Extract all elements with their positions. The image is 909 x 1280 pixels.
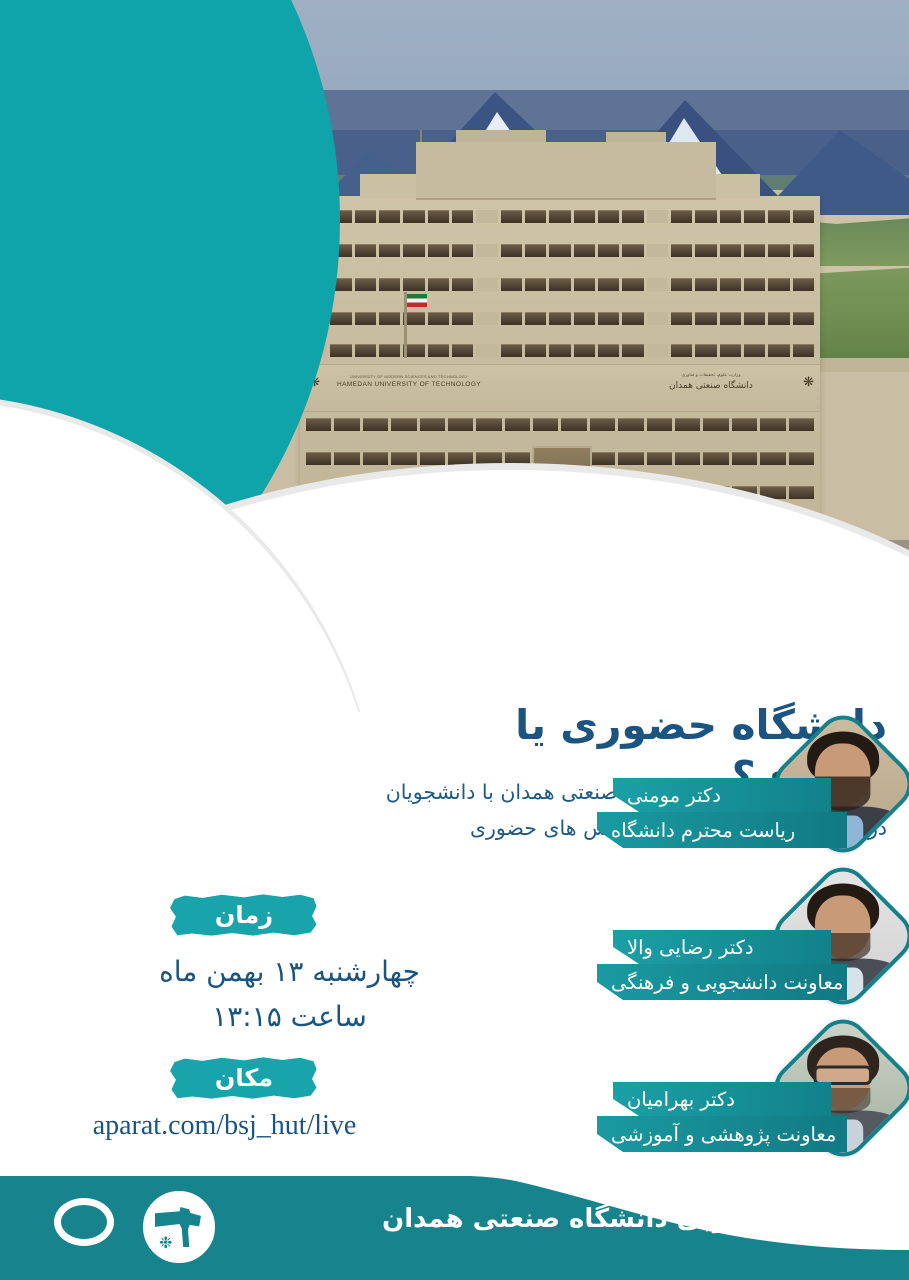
speaker-name: دکتر بهرامیان [613, 1082, 831, 1116]
logo-ring [54, 1198, 114, 1246]
university-building: ❋ ❋ UNIVERSITY OF MODERN SCIENCES AND TE… [300, 196, 820, 546]
parking-lot [250, 566, 680, 596]
building-sign-english: UNIVERSITY OF MODERN SCIENCES AND TECHNO… [314, 374, 504, 390]
building-sign-persian-main: دانشگاه صنعتی همدان [616, 379, 806, 393]
basij-flag-shape [155, 1211, 201, 1233]
speaker-name: دکتر رضایی والا [613, 930, 831, 964]
parked-car [250, 574, 296, 589]
window-row [306, 244, 814, 257]
speaker-card: دکتر رضایی والا معاونت دانشجویی و فرهنگی [548, 874, 909, 1026]
speaker-title: ریاست محترم دانشگاه [597, 812, 847, 848]
speaker-title: معاونت دانشجویی و فرهنگی [597, 964, 847, 1000]
window-row [306, 418, 814, 431]
window-row [306, 344, 814, 357]
parked-car [370, 574, 416, 589]
hero-section: ❋ ❋ UNIVERSITY OF MODERN SCIENCES AND TE… [0, 0, 909, 730]
iran-flag [404, 292, 407, 358]
building-sign-english-main: HAMEDAN UNIVERSITY OF TECHNOLOGY [314, 380, 504, 390]
footer: دانشگاه صنعتی همدان ❉ بسیج دانشجویی دانش… [0, 1176, 909, 1280]
speaker-card: دکتر مومنی ریاست محترم دانشگاه [548, 722, 909, 874]
campus-photograph: ❋ ❋ UNIVERSITY OF MODERN SCIENCES AND TE… [0, 0, 909, 712]
parked-car [440, 574, 486, 589]
window-row [306, 210, 814, 223]
building-sign-english-small: UNIVERSITY OF MODERN SCIENCES AND TECHNO… [314, 374, 504, 380]
parked-car [580, 574, 626, 589]
speaker-name: دکتر مومنی [613, 778, 831, 812]
university-logo-caption: دانشگاه صنعتی همدان [26, 1256, 130, 1265]
building-penthouse [416, 142, 716, 200]
building-sign-persian-small: وزارت علوم، تحقیقات و فناوری [616, 372, 806, 379]
organizer-name: بسیج دانشجویی دانشگاه صنعتی همدان [382, 1204, 881, 1234]
speaker-title: معاونت پژوهشی و آموزشی [597, 1116, 847, 1152]
speakers-list: دکتر مومنی ریاست محترم دانشگاه دکتر رضای… [548, 722, 909, 1182]
parked-car [308, 574, 354, 589]
building-sign-persian: وزارت علوم، تحقیقات و فناوری دانشگاه صنع… [616, 372, 806, 394]
basij-star-icon: ❉ [159, 1235, 172, 1251]
basij-logo-icon: ❉ [140, 1188, 218, 1266]
building-entrance [532, 446, 592, 546]
time-badge: زمان [170, 893, 318, 937]
hamedan-university-of-technology-logo-icon [38, 1184, 116, 1254]
speaker-card: دکتر بهرامیان معاونت پژوهشی و آموزشی [548, 1026, 909, 1178]
event-poster: ❋ ❋ UNIVERSITY OF MODERN SCIENCES AND TE… [0, 0, 909, 1280]
place-badge: مکان [170, 1056, 318, 1100]
portrait-glasses [813, 1066, 872, 1084]
window-row [306, 278, 814, 291]
parked-car [506, 574, 552, 589]
window-row [306, 312, 814, 325]
